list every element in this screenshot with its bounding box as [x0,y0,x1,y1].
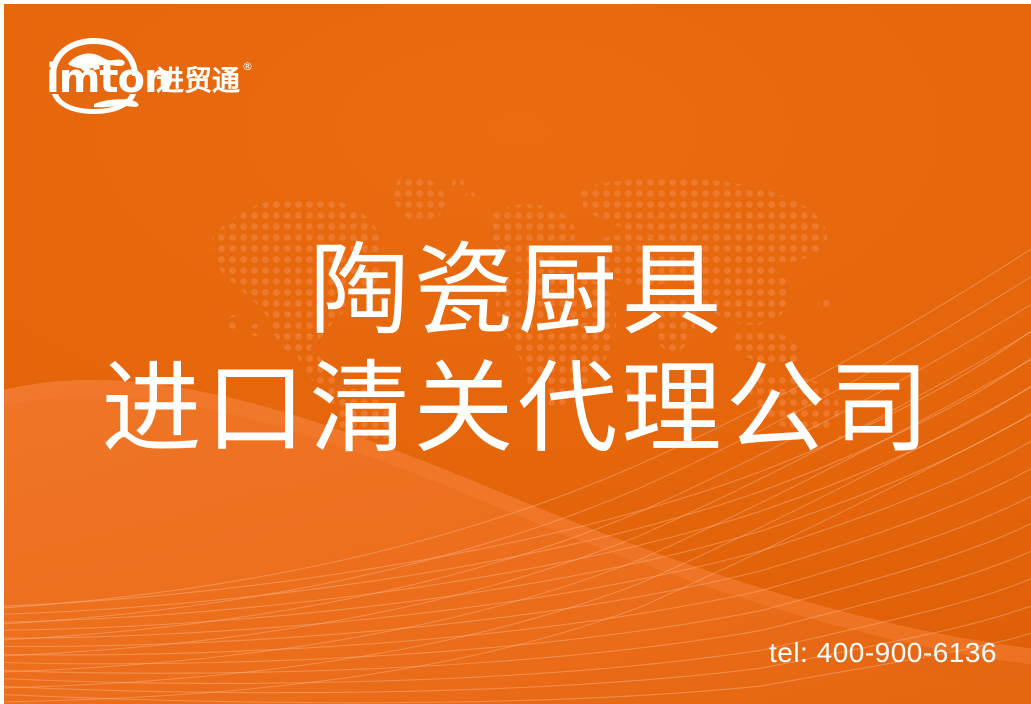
svg-text:®: ® [242,60,253,73]
contact-phone[interactable]: tel: 400-900-6136 [769,637,997,669]
svg-text:imton: imton [46,56,171,102]
promo-banner: imton 进贸通 ® 陶瓷厨具 进口清关代理公司 tel: 400-900-6… [0,0,1031,704]
svg-text:进贸通: 进贸通 [156,64,240,97]
brand-logo[interactable]: imton 进贸通 ® [38,34,288,114]
